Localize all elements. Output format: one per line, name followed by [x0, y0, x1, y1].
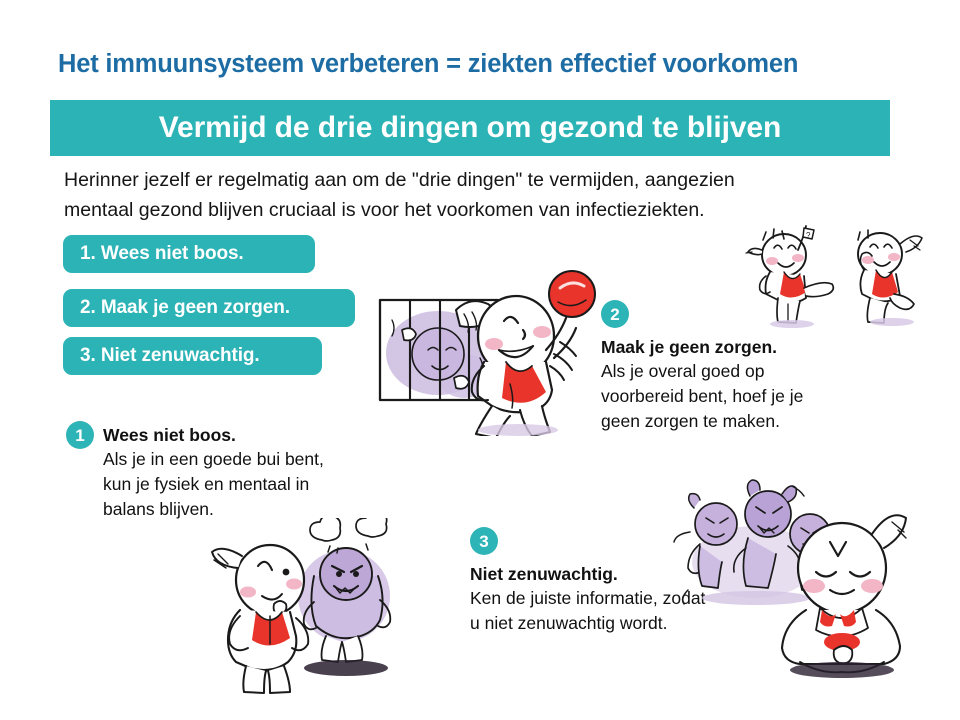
callout-1-body-line-2: kun je fysiek en mentaal in — [103, 472, 324, 497]
intro-line-1: Herinner jezelf er regelmatig aan om de … — [64, 165, 904, 195]
callout-1: 1 Wees niet boos. Als je in een goede bu… — [66, 421, 396, 522]
callout-1-title: Wees niet boos. — [103, 423, 324, 447]
intro-paragraph: Herinner jezelf er regelmatig aan om de … — [64, 165, 904, 225]
cartoon-two-cheerful-figures-illustration: ? — [738, 218, 946, 330]
cartoon-calm-person-and-angry-figure-illustration — [196, 518, 412, 696]
banner-title: Vermijd de drie dingen om gezond te blij… — [50, 100, 890, 156]
slide-canvas: Het immuunsysteem verbeteren = ziekten e… — [0, 0, 960, 720]
svg-text:?: ? — [806, 231, 811, 240]
callout-1-body-line-1: Als je in een goede bui bent, — [103, 447, 324, 472]
cartoon-person-with-caged-anger-illustration — [368, 258, 596, 436]
callout-2-body-line-3: geen zorgen te maken. — [601, 409, 921, 434]
callout-2-title: Maak je geen zorgen. — [601, 335, 921, 359]
pill-item-1[interactable]: 1. Wees niet boos. — [63, 235, 315, 273]
pill-item-2[interactable]: 2. Maak je geen zorgen. — [63, 289, 355, 327]
callout-3-number-badge: 3 — [470, 527, 498, 555]
callout-2-body-line-2: voorbereid bent, hoef je je — [601, 384, 921, 409]
pill-item-3[interactable]: 3. Niet zenuwachtig. — [63, 337, 322, 375]
callout-2-body-line-1: Als je overal goed op — [601, 359, 921, 384]
cartoon-meditating-person-and-anxious-figures-illustration — [664, 472, 942, 680]
callout-1-number-badge: 1 — [66, 421, 94, 449]
callout-2-number-badge: 2 — [601, 300, 629, 328]
page-title: Het immuunsysteem verbeteren = ziekten e… — [58, 50, 908, 79]
banner: Vermijd de drie dingen om gezond te blij… — [50, 100, 890, 156]
